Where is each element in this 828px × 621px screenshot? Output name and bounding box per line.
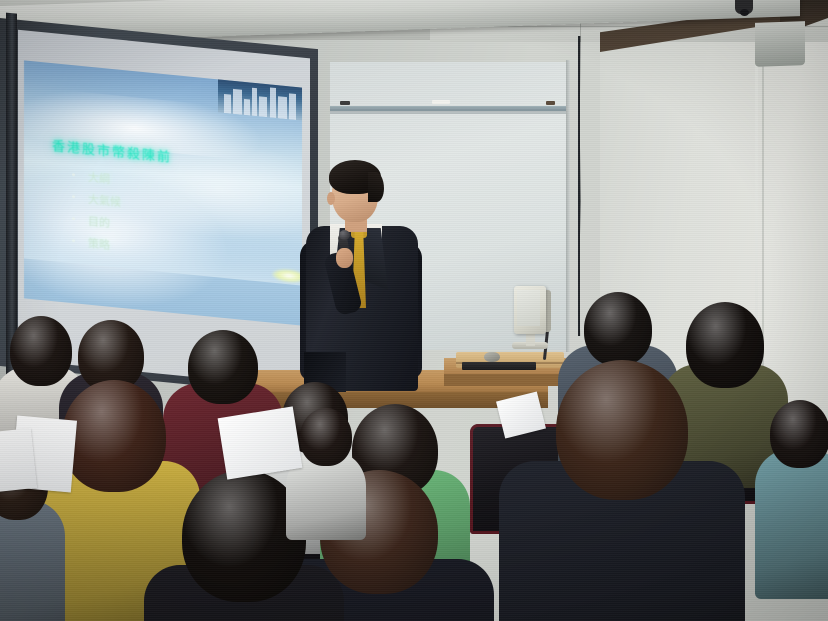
- presenter-hair-side: [368, 172, 384, 202]
- attendee-teal-shirt-edge-head: [770, 400, 828, 468]
- slide-bullet-1: 大綱: [88, 169, 110, 187]
- marker-icon: [340, 101, 350, 105]
- monitor-screen: [517, 290, 540, 326]
- screen-left-rail: [6, 13, 17, 376]
- photograph-scene: 香港股市幣殺陳前 大綱 大氣候 目的 策略: [0, 0, 828, 621]
- attendee-maroon-hoodie-head: [188, 330, 258, 404]
- whiteboard-tray-shadow: [330, 111, 570, 114]
- attendee-back-left-white-head: [10, 316, 72, 386]
- presenter-ear: [327, 192, 335, 205]
- attendee-curly-yellow-jacket-head: [62, 380, 166, 492]
- slide-bullet-4: 策略: [88, 235, 110, 253]
- microphone-head-icon: [339, 230, 350, 240]
- attendee-gray-shirt-right-head: [584, 292, 652, 366]
- slide-bullet-marker: [72, 173, 75, 176]
- slide-bullet-3: 目的: [88, 213, 110, 231]
- attendee-glasses-mid-head: [300, 408, 352, 466]
- handout-paper: [0, 428, 37, 492]
- presenter-hand: [336, 248, 353, 268]
- computer-table-apron: [444, 374, 568, 386]
- slide-bullet-2: 大氣候: [88, 191, 121, 210]
- whiteboard-edge: [566, 60, 570, 352]
- slide-bullet-marker: [72, 195, 75, 198]
- attendee-teal-shirt-edge-body: [755, 449, 828, 599]
- handout-paper: [218, 406, 303, 479]
- attendee-olive-top-right-head: [686, 302, 764, 388]
- projector-screen-housing-end: [755, 21, 805, 67]
- slide-bullet-marker: [72, 239, 75, 242]
- projector-lens-icon: [740, 9, 749, 16]
- attendee-front-suit-right-head: [556, 360, 688, 500]
- slide-bullet-marker: [72, 217, 75, 220]
- computer-mouse: [484, 352, 500, 362]
- keyboard: [462, 362, 536, 370]
- marker-icon: [546, 101, 555, 105]
- eraser-icon: [432, 100, 450, 104]
